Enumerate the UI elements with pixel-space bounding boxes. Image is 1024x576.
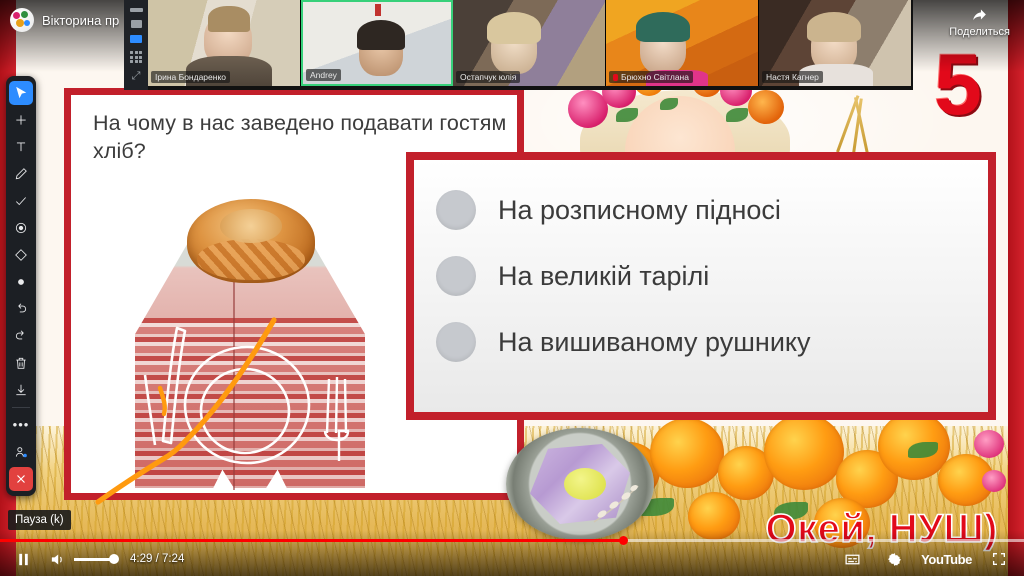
video-player-stage: На чому в нас заведено подавати гостям х… (0, 0, 1024, 576)
participant-tile[interactable]: Andrey (301, 0, 453, 86)
playback-controls: 4:29 / 7:24 (8, 544, 184, 574)
zoom-minimize-icon[interactable] (130, 8, 143, 12)
spotlight-icon[interactable] (9, 216, 33, 240)
volume-control[interactable] (42, 544, 116, 574)
zoom-gallery-view-icon[interactable] (130, 51, 142, 63)
muted-mic-indicator (613, 74, 618, 81)
trash-clear-icon[interactable] (9, 351, 33, 375)
text-tool-icon[interactable] (9, 135, 33, 159)
bread-on-rushnyk-illustration (105, 193, 395, 493)
toolbar-divider (12, 407, 30, 408)
zoom-strip-view-icon[interactable] (130, 35, 142, 43)
answer-option[interactable]: На вишиваному рушнику (436, 322, 974, 362)
pause-tooltip: Пауза (k) (8, 510, 71, 530)
move-crosshair-icon[interactable] (9, 108, 33, 132)
fullscreen-icon (991, 551, 1007, 567)
answer-option[interactable]: На великій тарілі (436, 256, 974, 296)
answer-label: На великій тарілі (498, 261, 709, 292)
answer-label: На вишиваному рушнику (498, 327, 811, 358)
eraser-icon[interactable] (9, 243, 33, 267)
participant-tile[interactable]: Ірина Бондаренко (148, 0, 301, 86)
answer-radio[interactable] (436, 322, 476, 362)
slide-right-rail (1008, 0, 1024, 576)
speaker-icon (49, 551, 66, 568)
participant-name: Настя Кагнер (762, 71, 823, 83)
dot-stamp-icon[interactable] (9, 270, 33, 294)
fullscreen-button[interactable] (984, 544, 1014, 574)
pause-icon (15, 551, 32, 568)
pencil-draw-icon[interactable] (9, 162, 33, 186)
annotation-toolbar[interactable]: ••• (6, 76, 36, 496)
video-title[interactable]: Вікторина пр (42, 13, 119, 28)
answer-radio[interactable] (436, 256, 476, 296)
willow-branch-icon (590, 480, 642, 526)
gear-icon (886, 551, 903, 568)
answers-card: На розписному підносі На великій тарілі … (406, 152, 996, 420)
time-display: 4:29 / 7:24 (130, 553, 184, 565)
more-options-icon[interactable]: ••• (9, 413, 33, 437)
participant-name: Остапчук юлія (456, 71, 520, 83)
decorated-plate-image (506, 428, 654, 540)
youtube-title-row[interactable]: Вікторина пр (10, 8, 119, 32)
check-stamp-icon[interactable] (9, 189, 33, 213)
zoom-floating-toolbar[interactable]: ⤢ (124, 0, 148, 90)
share-arrow-icon (971, 6, 988, 23)
zoom-participant-strip: Ірина Бондаренко Andrey Остапчук юлія Бр… (146, 0, 913, 90)
player-right-controls: YouTube (837, 544, 1014, 574)
participant-name: Andrey (306, 69, 341, 81)
participant-name: Ірина Бондаренко (151, 71, 230, 83)
subtitles-button[interactable] (837, 544, 867, 574)
progress-bar[interactable] (0, 539, 1024, 542)
participant-tile[interactable]: Брюхно Світлана (606, 0, 759, 86)
pause-button[interactable] (8, 544, 38, 574)
youtube-logo[interactable]: YouTube (921, 552, 972, 567)
redo-icon[interactable] (9, 324, 33, 348)
save-download-icon[interactable] (9, 378, 33, 402)
answer-radio[interactable] (436, 190, 476, 230)
volume-button[interactable] (42, 544, 72, 574)
participant-name: Брюхно Світлана (609, 71, 693, 83)
participant-tile[interactable]: Остапчук юлія (453, 0, 606, 86)
answer-label: На розписному підносі (498, 195, 781, 226)
subtitles-icon (844, 551, 861, 568)
undo-icon[interactable] (9, 297, 33, 321)
volume-slider[interactable] (74, 558, 116, 561)
zoom-expand-icon[interactable]: ⤢ (132, 71, 141, 82)
share-label: Поделиться (949, 26, 1010, 38)
select-arrow-icon[interactable] (9, 81, 33, 105)
annotator-name-icon[interactable] (9, 440, 33, 464)
zoom-speaker-view-icon[interactable] (131, 20, 142, 28)
share-button[interactable]: Поделиться (949, 6, 1010, 38)
channel-avatar[interactable] (10, 8, 34, 32)
settings-gear-button[interactable] (879, 544, 909, 574)
participant-tile[interactable]: Настя Кагнер (759, 0, 911, 86)
answer-option[interactable]: На розписному підносі (436, 190, 974, 230)
korovai-bread (187, 199, 315, 283)
close-toolbar-icon[interactable] (9, 467, 33, 491)
progress-scrubber[interactable] (619, 536, 628, 545)
youtube-bottom-controls: 4:29 / 7:24 YouTube (0, 530, 1024, 576)
